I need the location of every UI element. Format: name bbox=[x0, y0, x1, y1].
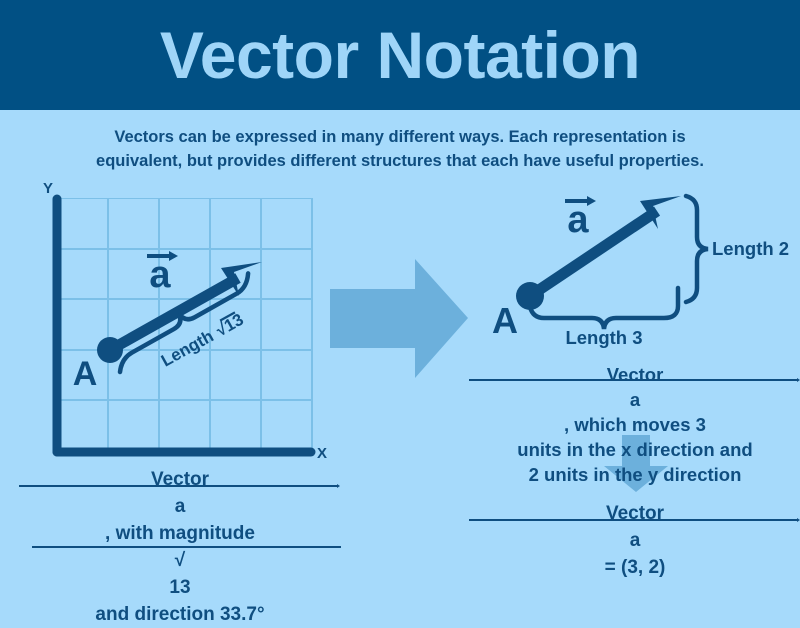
vertical-brace-label: Length 2 bbox=[712, 238, 789, 259]
vector-accent-head bbox=[169, 251, 178, 261]
infographic-root: Vector Notation Vectors can be expressed… bbox=[0, 0, 800, 540]
y-axis-label: Y bbox=[43, 180, 53, 197]
left-caption-line-2: √13 and direction 33.7° bbox=[20, 547, 340, 628]
right-caption-line-1: Vector a, which moves 3 bbox=[470, 362, 800, 437]
right-caption-line-3: 2 units in the y direction bbox=[470, 462, 800, 487]
vector-shaft bbox=[110, 278, 238, 350]
vector-a-inline-symbol: a bbox=[470, 387, 800, 412]
right-block-arrow bbox=[330, 259, 468, 378]
vector-a-inline-symbol: a bbox=[470, 527, 800, 554]
x-axis-label: X bbox=[317, 445, 327, 462]
vector-a-glyph: a bbox=[149, 254, 171, 296]
left-caption-line-1: Vector a, with magnitude bbox=[20, 466, 340, 547]
point-a-dot bbox=[97, 337, 123, 363]
horizontal-brace bbox=[530, 288, 678, 329]
vector-a-symbol-left: a bbox=[147, 251, 178, 296]
result-equation: Vector a= (3, 2) bbox=[470, 500, 800, 581]
horizontal-brace-label: Length 3 bbox=[565, 327, 642, 348]
result-line: Vector a= (3, 2) bbox=[470, 500, 800, 581]
left-grid-panel: Y X A a Length√13 bbox=[43, 180, 327, 462]
vector-a-inline-symbol: a bbox=[20, 493, 340, 520]
grid-lines bbox=[57, 198, 313, 450]
vertical-brace bbox=[686, 196, 708, 302]
point-a-label: A bbox=[73, 355, 98, 393]
vector-shaft bbox=[530, 211, 657, 296]
vector-a-right bbox=[516, 196, 681, 310]
radical-13: √13 bbox=[20, 547, 340, 601]
left-diagram-caption: Vector a, with magnitude √13 and directi… bbox=[20, 466, 340, 628]
right-component-panel: A a Length 2 Length 3 bbox=[492, 196, 789, 348]
vector-a-symbol-right: a bbox=[565, 196, 596, 241]
vector-accent-head bbox=[587, 196, 596, 206]
right-caption-line-2: units in the x direction and bbox=[470, 437, 800, 462]
vector-a-glyph: a bbox=[567, 199, 589, 241]
right-diagram-caption: Vector a, which moves 3 units in the x d… bbox=[470, 362, 800, 487]
point-a-label: A bbox=[492, 300, 518, 341]
